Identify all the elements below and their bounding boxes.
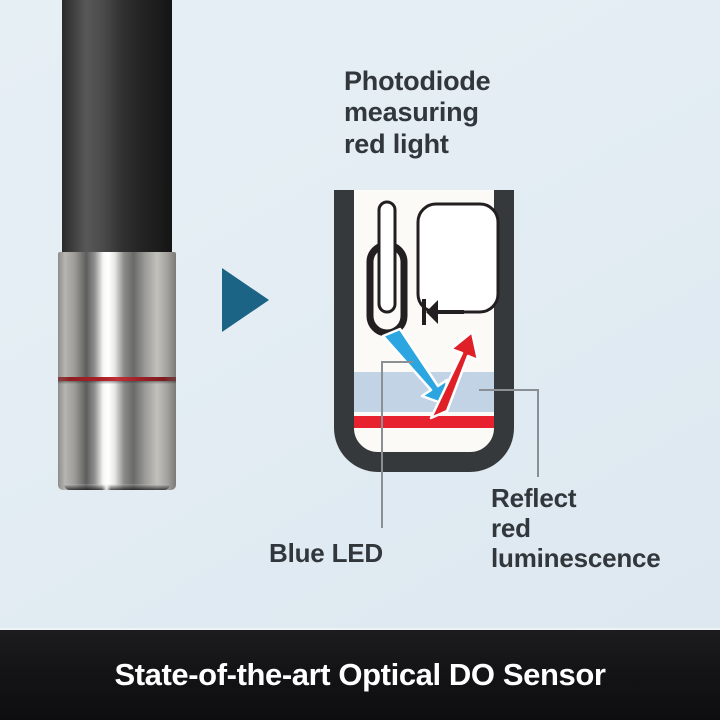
- sensor-cross-section-diagram: [334, 190, 514, 478]
- label-reflect-red-luminescence: Reflect red luminescence: [491, 483, 706, 573]
- bottom-banner: State-of-the-art Optical DO Sensor: [0, 630, 720, 720]
- leader-line-reflect-vertical: [537, 389, 539, 477]
- leader-line-blue-led-horizontal: [381, 361, 413, 363]
- probe-metal-tip: [58, 252, 176, 490]
- leader-line-blue-led-vertical: [381, 361, 383, 528]
- label-blue-led: Blue LED: [269, 538, 383, 568]
- banner-title: State-of-the-art Optical DO Sensor: [114, 657, 605, 693]
- infographic-canvas: Photodiode measuring red light: [0, 0, 720, 720]
- optical-do-probe-photo: [54, 0, 178, 504]
- flow-arrow-icon: [222, 268, 269, 332]
- leader-line-reflect-horizontal: [479, 389, 539, 391]
- label-photodiode-measuring-red-light: Photodiode measuring red light: [344, 66, 594, 160]
- probe-seam: [58, 381, 176, 384]
- probe-body: [62, 0, 172, 260]
- probe-specular-highlight: [102, 252, 111, 490]
- photodiode-block: [418, 204, 498, 312]
